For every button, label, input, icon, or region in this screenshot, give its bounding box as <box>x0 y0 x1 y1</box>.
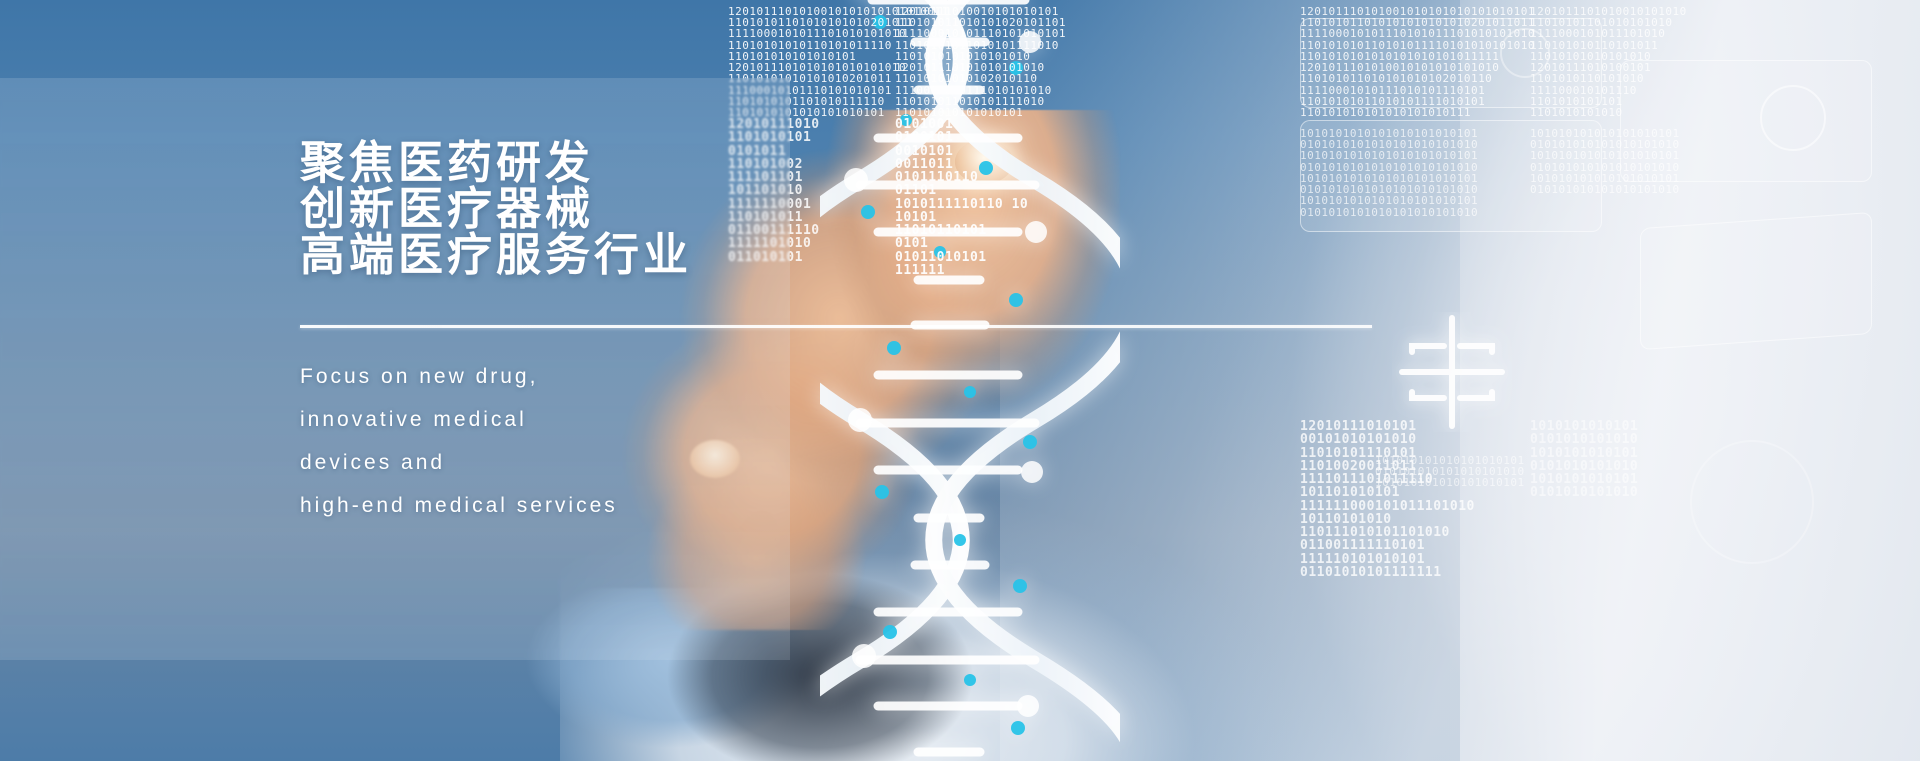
subtitle-line-3: devices and <box>300 441 820 484</box>
subtitle-line-2: innovative medical <box>300 398 820 441</box>
medical-cross-icon <box>1392 312 1512 432</box>
headline-line-1: 聚焦医药研发 <box>300 140 1060 186</box>
hud-card-4 <box>1640 212 1872 350</box>
subtitle-line-1: Focus on new drug, <box>300 355 820 398</box>
hud-card-3 <box>1620 60 1872 182</box>
hud-card-2 <box>1300 120 1602 232</box>
page-title: 聚焦医药研发 创新医疗器械 高端医疗服务行业 <box>300 140 1060 278</box>
dna-helix-icon <box>820 0 1120 761</box>
hud-circle-icon-2 <box>1500 28 1550 78</box>
subtitle: Focus on new drug, innovative medical de… <box>300 355 820 527</box>
banner-stage: 1201011101010010101010101010011 11010101… <box>0 0 1920 761</box>
hud-card-1 <box>1300 18 1602 108</box>
divider <box>300 325 1372 328</box>
subtitle-line-4: high-end medical services <box>300 484 820 527</box>
hud-circle-icon-3 <box>1690 440 1814 564</box>
headline-line-2: 创新医疗器械 <box>300 186 1060 232</box>
headline-line-3: 高端医疗服务行业 <box>300 232 1060 278</box>
hud-circle-icon-1 <box>1760 85 1826 151</box>
